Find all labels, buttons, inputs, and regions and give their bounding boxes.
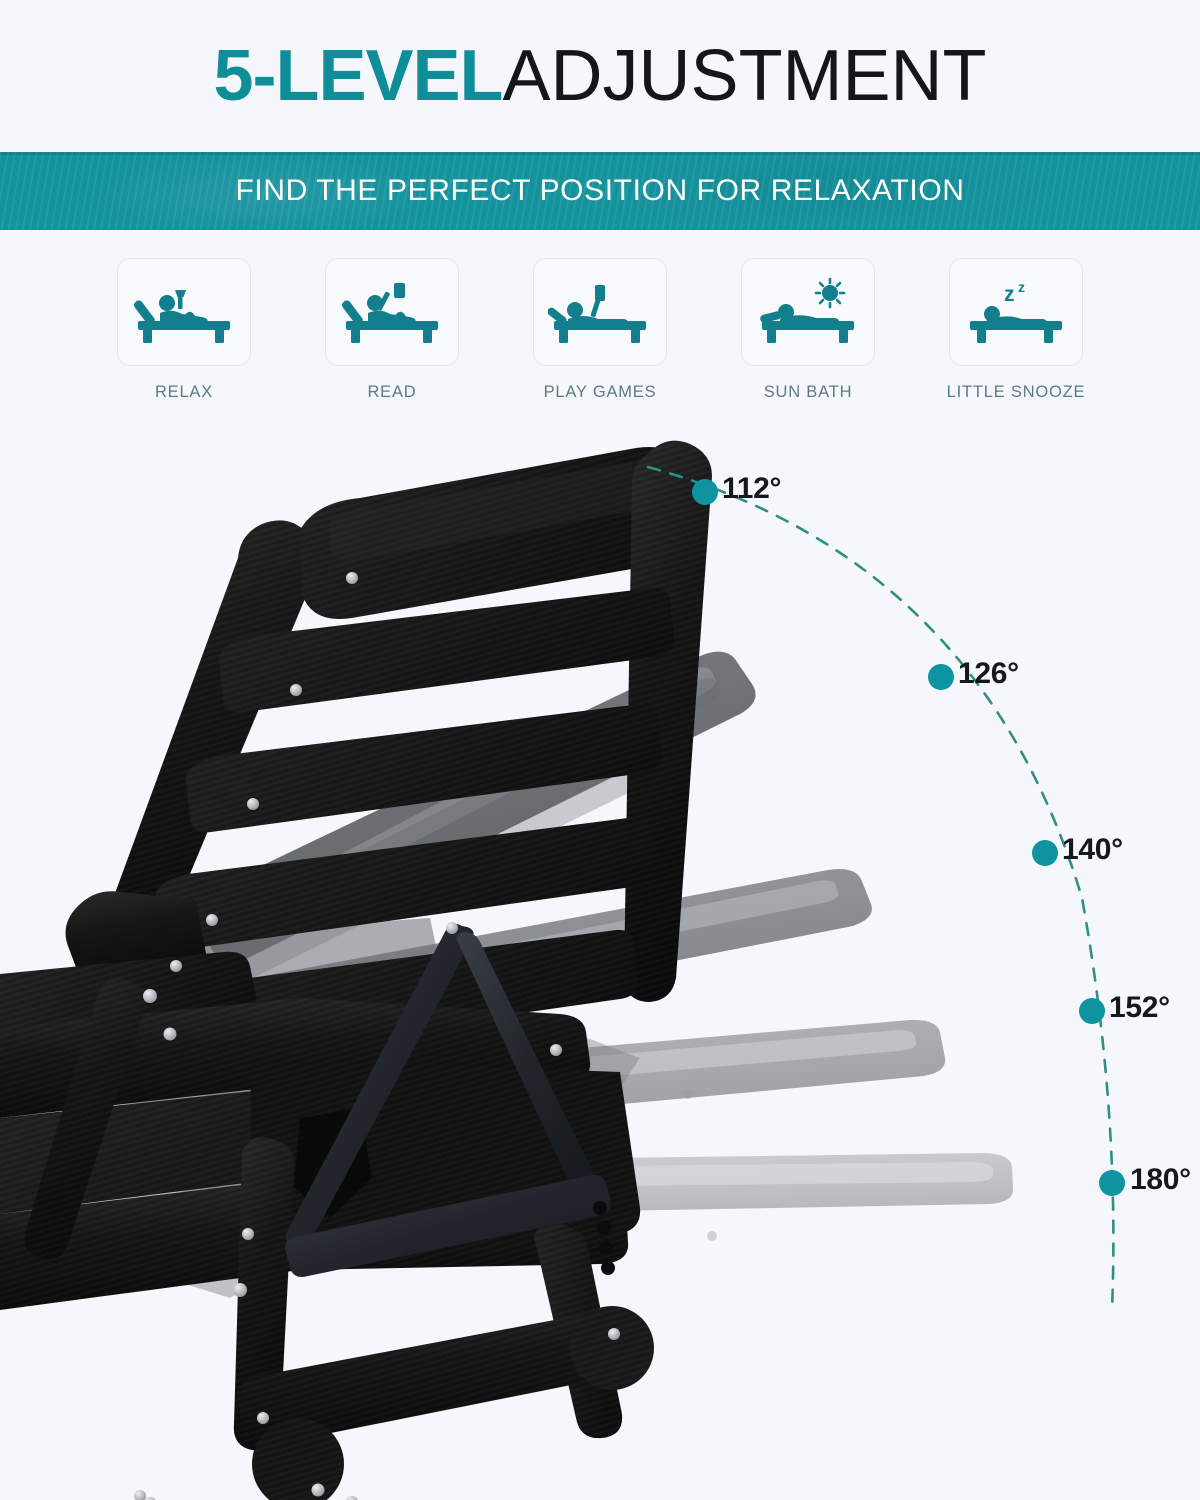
feature-icon-box [741,258,875,366]
title-accent: 5-LEVEL [213,36,502,116]
svg-text:z: z [1018,279,1025,295]
subtitle-banner: FIND THE PERFECT POSITION FOR RELAXATION [0,152,1200,230]
feature-item-relax[interactable]: RELAX [110,258,258,418]
angle-dot-112 [692,479,718,505]
angle-label-126: 126° [958,657,1019,691]
person-reclining-with-drink-icon [132,277,236,347]
feature-label: SUN BATH [764,383,853,402]
feature-icon-row: RELAX READ [0,258,1200,418]
feature-label: RELAX [155,383,213,402]
person-reclining-with-phone-icon [548,277,652,347]
feature-icon-box [325,258,459,366]
angle-dot-126 [928,664,954,690]
page-title: 5-LEVELADJUSTMENT [0,0,1200,152]
feature-item-sun-bath[interactable]: SUN BATH [734,258,882,418]
angle-label-180: 180° [1130,1163,1191,1197]
person-sleeping-zzz-icon: z z [964,277,1068,347]
feature-label: PLAY GAMES [544,383,657,402]
main-chair [0,441,717,1500]
angle-label-152: 152° [1109,991,1170,1025]
person-reclining-reading-book-icon [340,277,444,347]
angle-label-112: 112° [722,472,781,506]
feature-icon-box [533,258,667,366]
person-lying-flat-with-sun-icon [756,277,860,347]
svg-text:z: z [1004,283,1015,306]
angle-dot-152 [1079,998,1105,1024]
feature-icon-box [117,258,251,366]
chaise-lounge-diagram [0,418,1200,1500]
feature-label: READ [367,383,416,402]
product-illustration-stage: 112° 126° 140° 152° 180° [0,418,1200,1500]
banner-text: FIND THE PERFECT POSITION FOR RELAXATION [235,174,964,208]
feature-item-read[interactable]: READ [318,258,466,418]
feature-label: LITTLE SNOOZE [947,383,1086,402]
angle-dot-180 [1099,1170,1125,1196]
feature-item-play-games[interactable]: PLAY GAMES [526,258,674,418]
title-main: ADJUSTMENT [503,36,987,116]
feature-item-little-snooze[interactable]: z z LITTLE SNOOZE [942,258,1090,418]
angle-label-140: 140° [1062,833,1123,867]
feature-icon-box: z z [949,258,1083,366]
angle-dot-140 [1032,840,1058,866]
